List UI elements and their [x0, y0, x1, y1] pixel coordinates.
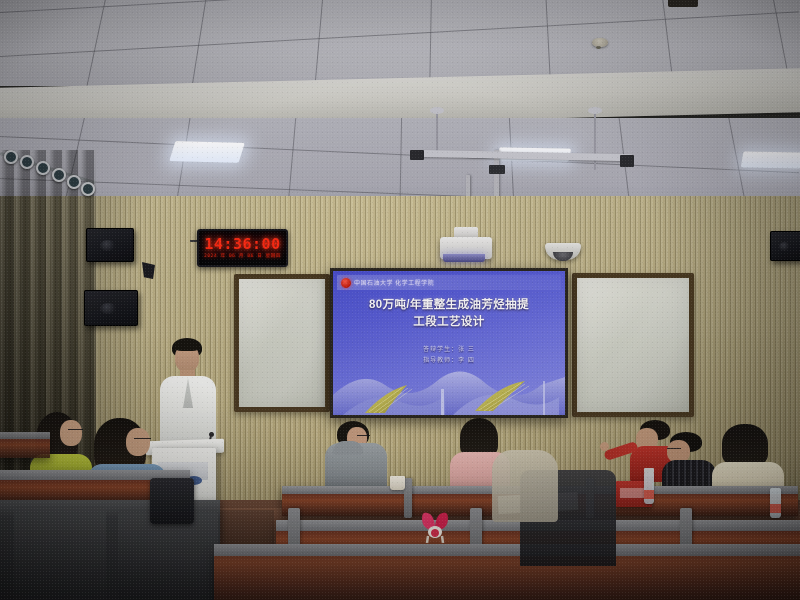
bench-far-left	[0, 432, 50, 458]
water-bottle	[644, 472, 654, 504]
hanger-plate	[430, 107, 444, 114]
curtain-grommet	[52, 168, 66, 182]
slide-architecture-graphic	[333, 355, 565, 415]
bench-desktop	[0, 432, 50, 439]
red-box-label	[620, 488, 646, 498]
whiteboard-left	[234, 274, 330, 412]
track-end-cap-right	[620, 155, 634, 167]
black-bag	[150, 478, 194, 524]
attendee-5-hand	[600, 442, 609, 451]
curtain-grommet	[20, 155, 34, 169]
attendee-1-glasses	[68, 429, 83, 433]
attendee-jacket-on-seat	[492, 450, 558, 522]
clock-time-display: 14:36:00	[204, 237, 280, 252]
bench-wood-front	[0, 439, 50, 458]
attendee-6	[662, 432, 716, 494]
ceiling-hanger-rod	[594, 112, 596, 170]
attendee-3	[325, 421, 387, 493]
slide-header-banner: 中国石油大学 化学工程学院	[337, 275, 561, 290]
clock-date-display: 2024 年 06 月 06 日 星期四	[204, 255, 281, 260]
paper-cup	[390, 476, 405, 490]
university-emblem-icon	[341, 278, 351, 288]
projection-screen: 中国石油大学 化学工程学院 80万吨/年重整生成油芳烃抽提 工段工艺设计 答辩学…	[330, 268, 568, 418]
water-bottle-label	[644, 490, 654, 499]
microphone-head-icon	[209, 432, 214, 437]
water-bottle-cap	[644, 468, 654, 473]
bench-seatback	[118, 512, 218, 600]
wall-speaker-upper	[86, 228, 134, 262]
bow-graphic	[414, 508, 456, 544]
attendee-2-glasses	[134, 438, 151, 442]
whiteboard-right	[572, 273, 694, 417]
slide-title-line-1: 80万吨/年重整生成油芳烃抽提	[341, 297, 557, 314]
speaker-cone-icon	[100, 240, 116, 251]
attendee-3-hood	[333, 441, 363, 455]
ceiling-light-panel-left	[169, 141, 245, 163]
whiteboard-glare	[577, 278, 689, 412]
curtain-grommet	[81, 182, 95, 196]
attendee-1-head	[60, 420, 82, 446]
smoke-detector-led	[596, 46, 601, 49]
mount-clamp	[489, 165, 505, 174]
bench-divider	[404, 478, 412, 518]
wall-speaker-lower	[84, 290, 138, 326]
attendee-3-glasses	[357, 435, 370, 439]
presentation-slide: 中国石油大学 化学工程学院 80万吨/年重整生成油芳烃抽提 工段工艺设计 答辩学…	[333, 271, 565, 415]
speaker-cone-icon	[779, 242, 789, 252]
curtain-grommet	[67, 175, 81, 189]
curtain-grommet	[36, 161, 50, 175]
curtain-grommet	[4, 150, 18, 164]
led-wall-clock: 14:36:00 2024 年 06 月 06 日 星期四	[197, 229, 288, 267]
projector-lens-icon	[443, 254, 485, 262]
ceiling-fixture-dark	[668, 0, 698, 7]
hanger-plate	[588, 107, 602, 114]
lecture-hall-photo: 中国石油大学 化学工程学院 80万吨/年重整生成油芳烃抽提 工段工艺设计 答辩学…	[0, 0, 800, 600]
university-name: 中国石油大学 化学工程学院	[354, 278, 434, 287]
bench-foreground-desktop	[214, 544, 800, 556]
slide-title: 80万吨/年重整生成油芳烃抽提 工段工艺设计	[341, 297, 557, 332]
track-end-cap-left	[410, 150, 424, 160]
speaker-cone-icon	[100, 303, 118, 315]
attendee-7-hair	[722, 424, 768, 466]
slide-title-line-2: 工段工艺设计	[341, 314, 557, 331]
bench-seatback	[14, 506, 106, 600]
wall-speaker-right	[770, 231, 800, 261]
attendee-2-head	[126, 428, 150, 456]
slide-artwork	[333, 355, 565, 415]
water-bottle-right	[770, 488, 781, 518]
whiteboard-glare	[239, 279, 325, 407]
pink-bow-accessory	[414, 508, 456, 544]
presenter-hair-top	[174, 339, 200, 351]
ceiling-light-panel-right	[741, 151, 800, 168]
water-bottle-right-label	[770, 504, 781, 513]
attendee-6-glasses	[667, 448, 681, 452]
bench-row-foreground-right	[214, 550, 800, 600]
